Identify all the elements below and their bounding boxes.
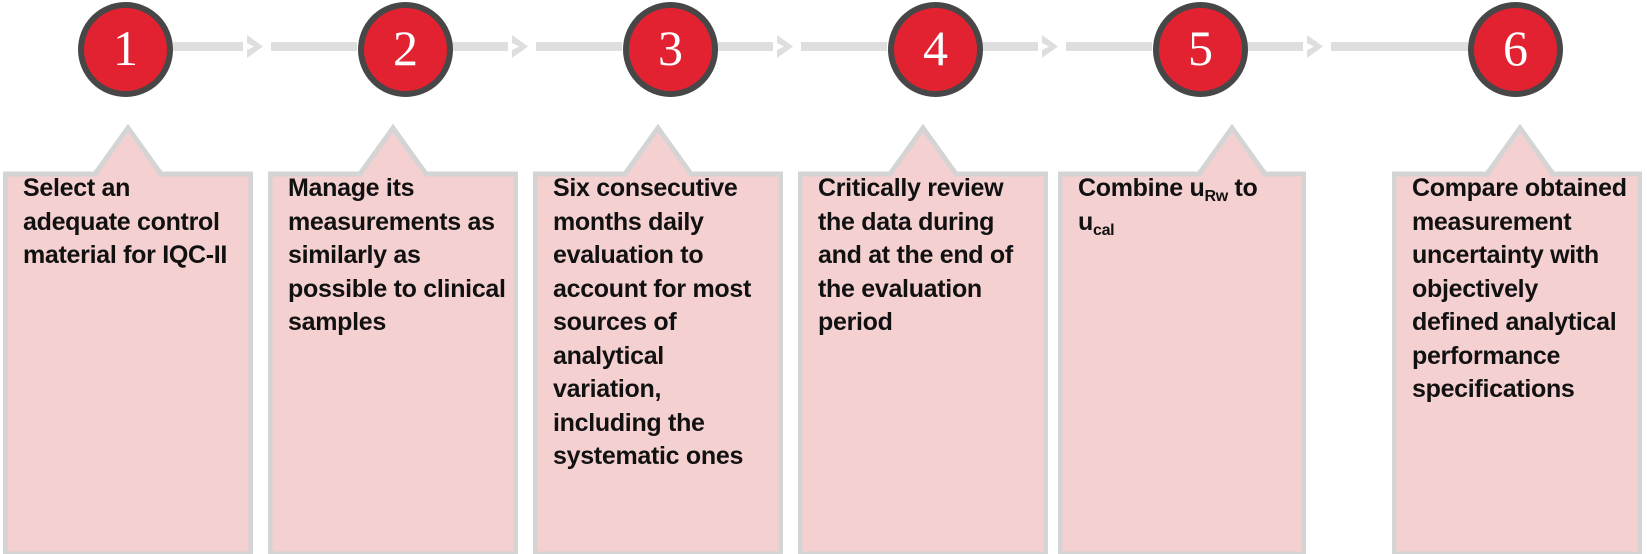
- step-number-label: 1: [113, 23, 138, 77]
- chevron-right-icon: [1038, 33, 1064, 60]
- process-flow-diagram: 1 2 3 4 5 6 Select an adequate control m…: [0, 0, 1647, 554]
- callout-box-4[interactable]: Critically review the data during and at…: [798, 124, 1048, 554]
- connector-line-right: [1066, 42, 1152, 51]
- callout-box-1[interactable]: Select an adequate control material for …: [3, 124, 253, 554]
- callout-text-3: Six consecutive months daily evaluation …: [553, 172, 771, 474]
- connector-line-left: [173, 42, 243, 51]
- chevron-right-icon: [243, 33, 269, 60]
- step-circle-5[interactable]: 5: [1153, 2, 1248, 97]
- step-circle-4[interactable]: 4: [888, 2, 983, 97]
- callout-box-3[interactable]: Six consecutive months daily evaluation …: [533, 124, 783, 554]
- step-number-label: 3: [658, 23, 683, 77]
- connector-4-5: [968, 42, 1152, 51]
- callout-text-1: Select an adequate control material for …: [23, 172, 241, 273]
- connector-1-2: [173, 42, 357, 51]
- chevron-right-icon: [773, 33, 799, 60]
- callout-text-2: Manage its measurements as similarly as …: [288, 172, 506, 340]
- step-circle-3[interactable]: 3: [623, 2, 718, 97]
- step-number-label: 5: [1188, 23, 1213, 77]
- chevron-right-icon: [1303, 33, 1329, 60]
- step-number-label: 4: [923, 23, 948, 77]
- callout-text-4: Critically review the data during and at…: [818, 172, 1036, 340]
- step-circle-2[interactable]: 2: [358, 2, 453, 97]
- callout-text-5: Combine uRw toucal: [1078, 172, 1294, 239]
- connector-line-right: [536, 42, 622, 51]
- connector-5-6: [1233, 42, 1468, 51]
- step-circle-6[interactable]: 6: [1468, 2, 1563, 97]
- callout-box-2[interactable]: Manage its measurements as similarly as …: [268, 124, 518, 554]
- connector-line-right: [1331, 42, 1468, 51]
- step-number-label: 6: [1503, 23, 1528, 77]
- callout-box-6[interactable]: Compare obtained measurement uncertainty…: [1392, 124, 1642, 554]
- step-circle-1[interactable]: 1: [78, 2, 173, 97]
- step-number-label: 2: [393, 23, 418, 77]
- callout-box-5[interactable]: Combine uRw toucal: [1058, 124, 1306, 554]
- connector-line-right: [271, 42, 357, 51]
- callout-text-6: Compare obtained measurement uncertainty…: [1412, 172, 1630, 407]
- connector-line-right: [801, 42, 887, 51]
- chevron-right-icon: [508, 33, 534, 60]
- connector-3-4: [703, 42, 887, 51]
- connector-track: [0, 0, 1647, 100]
- connector-2-3: [438, 42, 622, 51]
